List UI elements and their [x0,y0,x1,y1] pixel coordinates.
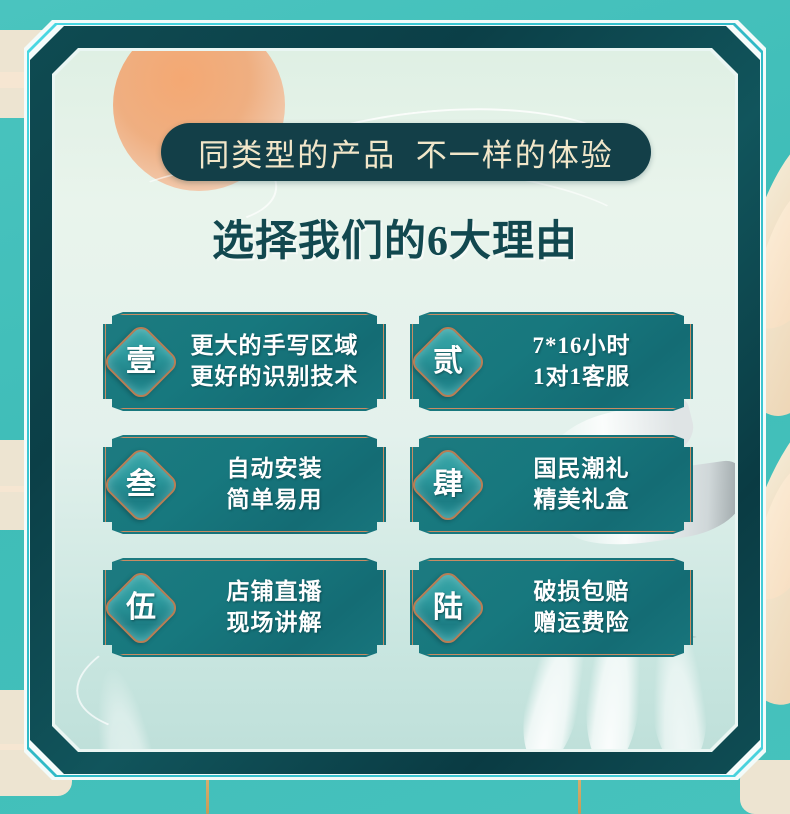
gold-stem-icon [578,774,581,814]
card-line-1: 店铺直播 [179,580,370,604]
reason-card-5[interactable]: 伍 店铺直播 现场讲解 [103,558,386,657]
reason-card-grid: 壹 更大的手写区域 更好的识别技术 贰 7*16小时 1对1客服 [103,312,693,657]
gold-stem-icon [206,774,209,814]
diamond-badge-icon: 壹 [101,322,180,401]
numeral-badge-wrap: 肆 [410,435,486,534]
card-line-1: 自动安装 [179,457,370,481]
badge-numeral: 陆 [433,593,463,623]
card-text: 破损包赔 赠运费险 [486,580,693,635]
diamond-badge-icon: 肆 [408,445,487,524]
badge-numeral: 叁 [126,470,156,500]
numeral-badge-wrap: 壹 [103,312,179,411]
reason-card-3[interactable]: 叁 自动安装 简单易用 [103,435,386,534]
badge-numeral: 贰 [433,347,463,377]
badge-numeral: 壹 [126,347,156,377]
reason-card-4[interactable]: 肆 国民潮礼 精美礼盒 [410,435,693,534]
diamond-badge-icon: 伍 [101,568,180,647]
reason-card-6[interactable]: 陆 破损包赔 赠运费险 [410,558,693,657]
page-title: 选择我们的6大理由 [0,207,790,268]
card-line-2: 现场讲解 [179,611,370,635]
reason-card-2[interactable]: 贰 7*16小时 1对1客服 [410,312,693,411]
card-line-1: 破损包赔 [486,580,677,604]
headline-banner: 同类型的产品 不一样的体验 [161,123,651,181]
diamond-badge-icon: 贰 [408,322,487,401]
card-text: 国民潮礼 精美礼盒 [486,457,693,512]
headline-banner-text: 同类型的产品 不一样的体验 [198,130,614,175]
card-line-1: 国民潮礼 [486,457,677,481]
card-line-2: 简单易用 [179,488,370,512]
card-line-1: 更大的手写区域 [179,334,370,358]
diamond-badge-icon: 叁 [101,445,180,524]
card-text: 更大的手写区域 更好的识别技术 [179,334,386,389]
promo-poster: 同类型的产品 不一样的体验 选择我们的6大理由 壹 更大的手写区域 更好的识别技… [0,0,790,814]
card-line-1: 7*16小时 [486,334,677,358]
diamond-badge-icon: 陆 [408,568,487,647]
card-text: 7*16小时 1对1客服 [486,334,693,389]
card-line-2: 精美礼盒 [486,488,677,512]
badge-numeral: 肆 [433,470,463,500]
card-line-2: 1对1客服 [486,365,677,389]
badge-numeral: 伍 [126,593,156,623]
numeral-badge-wrap: 叁 [103,435,179,534]
card-line-2: 更好的识别技术 [179,365,370,389]
card-line-2: 赠运费险 [486,611,677,635]
card-text: 自动安装 简单易用 [179,457,386,512]
numeral-badge-wrap: 贰 [410,312,486,411]
numeral-badge-wrap: 陆 [410,558,486,657]
card-text: 店铺直播 现场讲解 [179,580,386,635]
reason-card-1[interactable]: 壹 更大的手写区域 更好的识别技术 [103,312,386,411]
numeral-badge-wrap: 伍 [103,558,179,657]
